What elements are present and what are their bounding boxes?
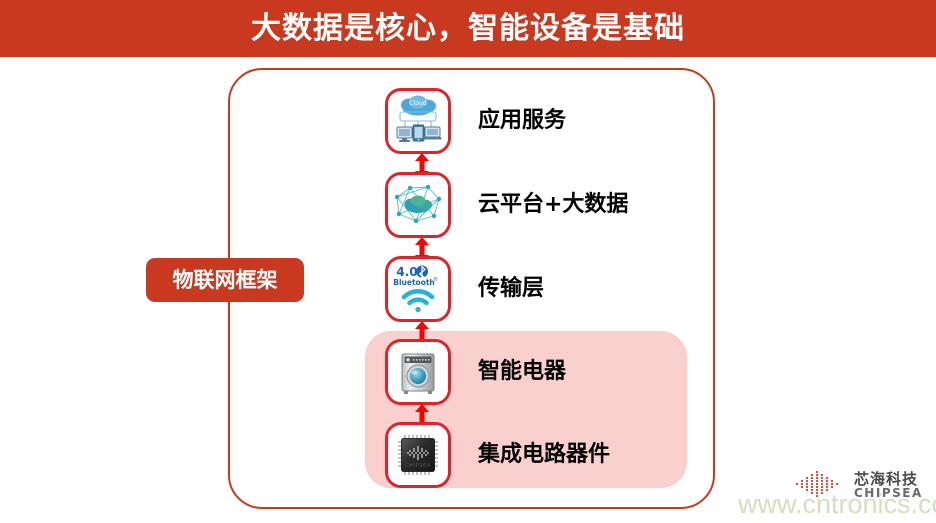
layer-row-transport: 4.0 Bluetooth ® 传输层 [385,256,705,322]
ic-chip-icon: CHIPSEA [385,422,451,488]
layer-row-ic-chip: CHIPSEA 集成电路器件 [385,422,705,488]
washing-machine-icon [385,339,451,405]
cloud-devices-icon: Cloud [385,88,451,154]
svg-text:Cloud: Cloud [409,100,426,107]
svg-text:4.0: 4.0 [396,265,417,279]
layer-label-ic-chip: 集成电路器件 [478,422,610,488]
svg-text:®: ® [433,276,438,283]
page-title: 大数据是核心，智能设备是基础 [0,0,936,57]
iot-framework-badge: 物联网框架 [146,258,304,302]
title-bar: 大数据是核心，智能设备是基础 [0,0,936,57]
svg-text:CHIPSEA: CHIPSEA [405,463,431,469]
layer-row-smart-appliance: 智能电器 [385,339,705,405]
layer-label-smart-appliance: 智能电器 [478,339,566,405]
layer-label-cloud-platform: 云平台+大数据 [478,172,628,238]
svg-text:Bluetooth: Bluetooth [393,278,435,287]
bluetooth-wifi-icon: 4.0 Bluetooth ® [385,256,451,322]
cloud-network-mesh-icon [385,172,451,238]
site-watermark: www.cntronics.com [738,489,936,520]
layer-label-transport: 传输层 [478,256,544,322]
layer-row-application: Cloud 应用服务 [385,88,705,154]
layer-row-cloud-platform: 云平台+大数据 [385,172,705,238]
iot-framework-badge-label: 物联网框架 [146,258,304,302]
layer-label-application: 应用服务 [478,88,566,154]
